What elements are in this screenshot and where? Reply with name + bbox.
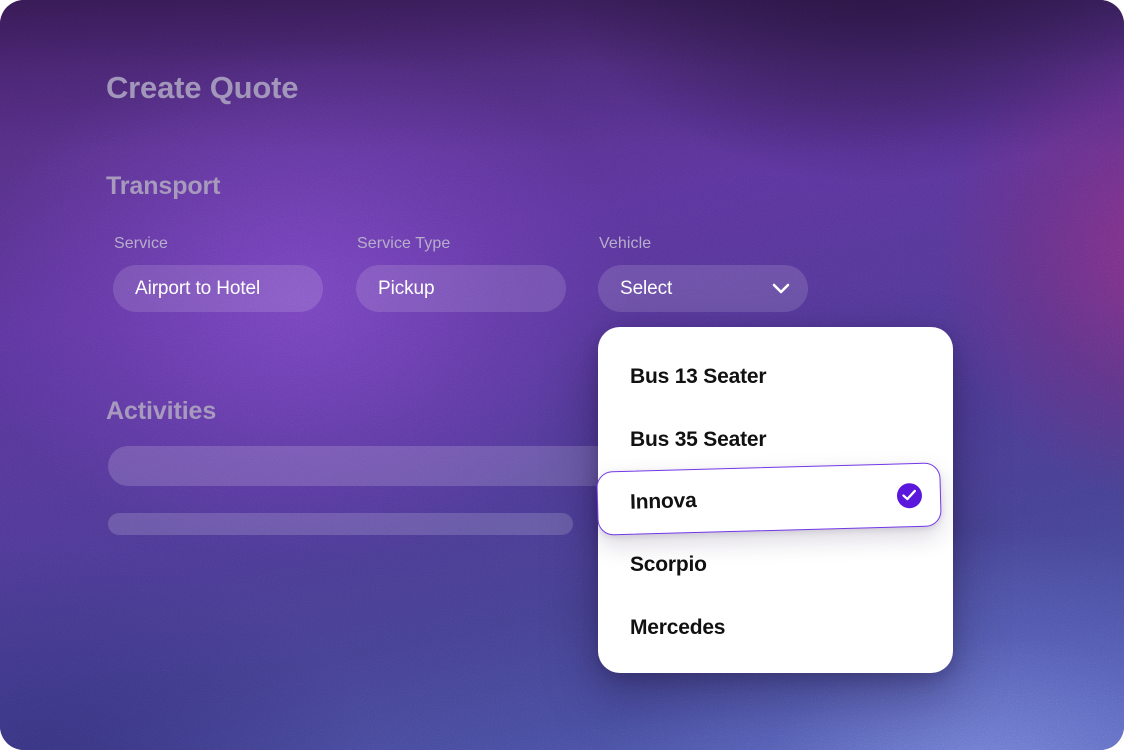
skeleton-bar-1 xyxy=(108,446,618,486)
vehicle-option-bus-13-seater[interactable]: Bus 13 Seater xyxy=(598,345,953,408)
vehicle-option-label: Bus 13 Seater xyxy=(630,365,766,389)
service-type-value: Pickup xyxy=(378,278,434,300)
field-label-vehicle: Vehicle xyxy=(599,235,651,253)
chevron-down-icon xyxy=(772,283,790,294)
vehicle-option-scorpio[interactable]: Scorpio xyxy=(598,533,953,596)
service-input[interactable]: Airport to Hotel xyxy=(113,265,323,312)
vehicle-option-label: Innova xyxy=(630,489,697,515)
vehicle-select-value: Select xyxy=(620,278,672,300)
section-heading-transport: Transport xyxy=(106,172,220,201)
service-value: Airport to Hotel xyxy=(135,278,260,300)
vehicle-select[interactable]: Select xyxy=(598,265,808,312)
field-label-service: Service xyxy=(114,235,168,253)
create-quote-screen: Create Quote Transport Service Airport t… xyxy=(0,0,1124,750)
vehicle-option-label: Mercedes xyxy=(630,616,725,640)
vehicle-option-label: Bus 35 Seater xyxy=(630,428,766,452)
vehicle-dropdown-menu: Bus 13 Seater Bus 35 Seater Innova Scorp… xyxy=(598,327,953,673)
section-heading-activities: Activities xyxy=(106,397,216,426)
vehicle-option-list: Bus 13 Seater Bus 35 Seater Innova Scorp… xyxy=(598,327,953,673)
check-circle-icon xyxy=(897,482,923,508)
field-label-service-type: Service Type xyxy=(357,235,450,253)
skeleton-bar-2 xyxy=(108,513,573,535)
vehicle-option-label: Scorpio xyxy=(630,553,707,577)
service-type-input[interactable]: Pickup xyxy=(356,265,566,312)
page-title: Create Quote xyxy=(106,70,298,106)
vehicle-option-bus-35-seater[interactable]: Bus 35 Seater xyxy=(598,408,953,471)
vehicle-option-mercedes[interactable]: Mercedes xyxy=(598,596,953,659)
vehicle-option-innova-selected[interactable]: Innova xyxy=(596,462,942,535)
